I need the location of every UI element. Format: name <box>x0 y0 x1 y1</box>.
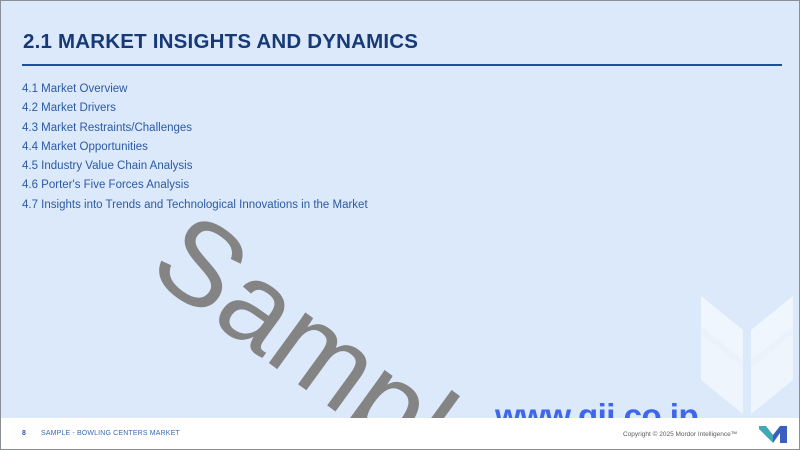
list-item: 4.1 Market Overview <box>22 80 722 99</box>
footer-page-number: 8 <box>22 430 26 437</box>
slide-canvas: 2.1 MARKET INSIGHTS AND DYNAMICS 4.1 Mar… <box>0 0 800 450</box>
list-item: 4.5 Industry Value Chain Analysis <box>22 157 722 176</box>
list-item: 4.3 Market Restraints/Challenges <box>22 119 722 138</box>
mordor-intelligence-logo-icon <box>758 425 788 444</box>
list-item: 4.6 Porter's Five Forces Analysis <box>22 176 722 195</box>
list-item: 4.4 Market Opportunities <box>22 138 722 157</box>
title-divider <box>22 64 782 66</box>
list-item: 4.7 Insights into Trends and Technologic… <box>22 196 722 215</box>
toc-list: 4.1 Market Overview 4.2 Market Drivers 4… <box>22 80 722 215</box>
footer-document-label: SAMPLE - BOWLING CENTERS MARKET <box>41 430 180 437</box>
list-item: 4.2 Market Drivers <box>22 99 722 118</box>
page-title: 2.1 MARKET INSIGHTS AND DYNAMICS <box>23 30 418 54</box>
footer-copyright: Copyright © 2025 Mordor Intelligence™ <box>623 431 737 438</box>
